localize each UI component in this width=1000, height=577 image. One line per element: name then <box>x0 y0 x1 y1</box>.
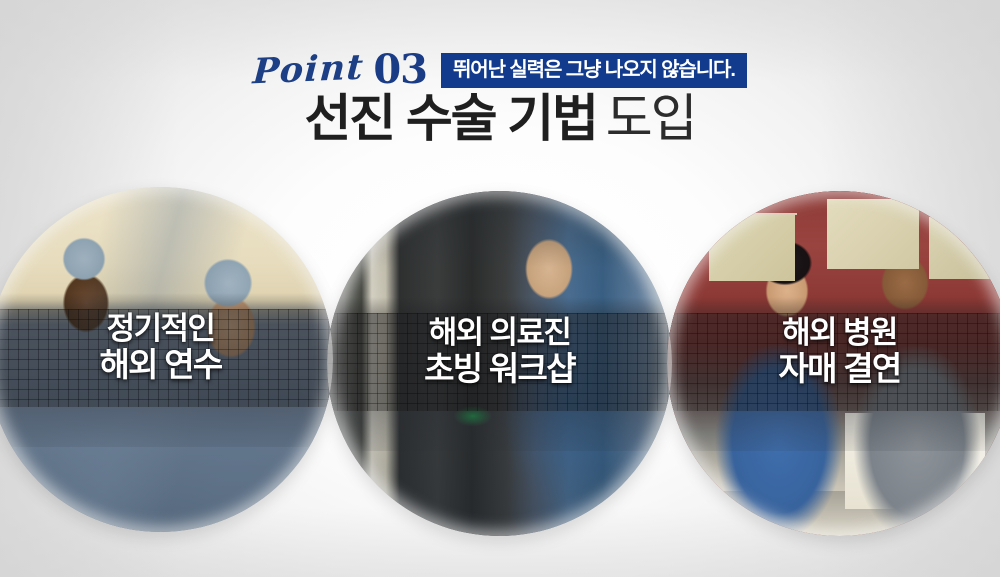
caption-band-2 <box>327 313 672 411</box>
band-fade-top <box>667 297 1000 313</box>
headline-light: 도입 <box>606 90 696 147</box>
band-grid-overlay <box>327 313 672 411</box>
band-fade-bottom <box>0 407 333 447</box>
header: Point 03 뛰어난 실력은 그냥 나오지 않습니다. 선진 수술 기법도입 <box>0 0 1000 175</box>
caption-band-1 <box>0 309 333 407</box>
band-grid-overlay <box>667 313 1000 411</box>
feature-card-1[interactable]: 정기적인 해외 연수 <box>0 187 333 532</box>
tagline-badge: 뛰어난 실력은 그냥 나오지 않습니다. <box>441 53 747 88</box>
point-label: Point <box>252 49 366 89</box>
band-fade-bottom <box>327 411 672 451</box>
page-title: 선진 수술 기법도입 <box>0 93 1000 144</box>
headline-strong: 선진 수술 기법 <box>304 90 596 147</box>
feature-card-2[interactable]: 해외 의료진 초빙 워크샵 <box>327 191 672 536</box>
point-number: 03 <box>373 50 427 90</box>
promo-banner: Point 03 뛰어난 실력은 그냥 나오지 않습니다. 선진 수술 기법도입… <box>0 0 1000 577</box>
feature-card-3[interactable]: 해외 병원 자매 결연 <box>667 191 1000 536</box>
band-fade-top <box>0 293 333 309</box>
feature-circles: 정기적인 해외 연수 해외 의료진 초빙 워크샵 <box>0 185 1000 535</box>
band-grid-overlay <box>0 309 333 407</box>
caption-band-3 <box>667 313 1000 411</box>
band-fade-bottom <box>667 411 1000 451</box>
point-row: Point 03 뛰어난 실력은 그냥 나오지 않습니다. <box>0 46 1000 92</box>
band-fade-top <box>327 297 672 313</box>
